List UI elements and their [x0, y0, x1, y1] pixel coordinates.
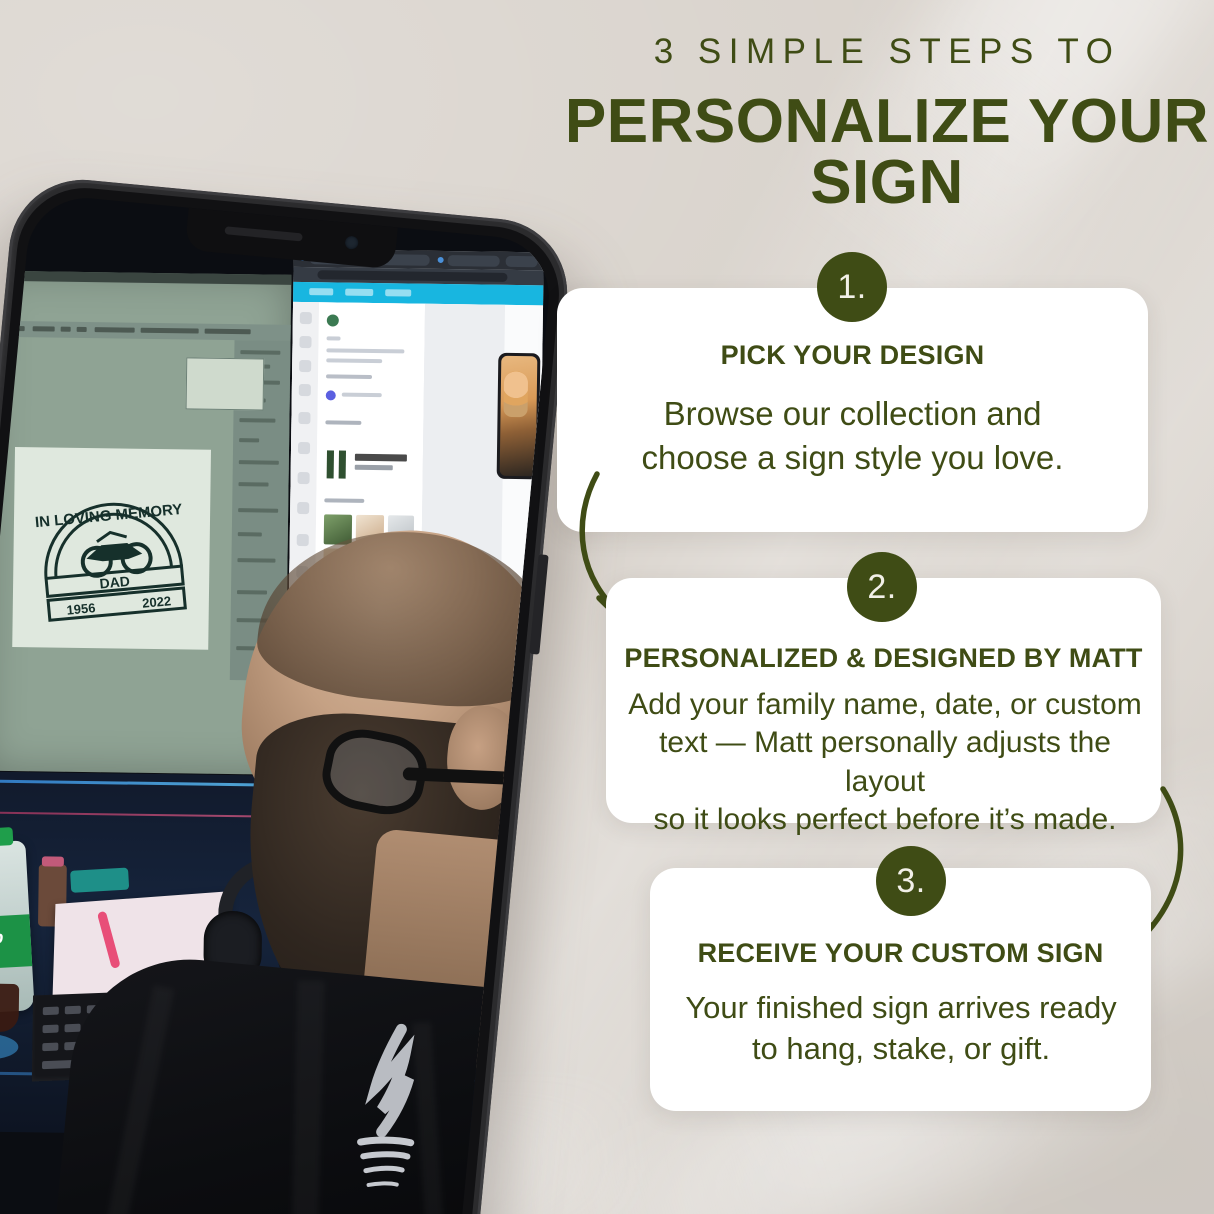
step-title-1: PICK YOUR DESIGN	[557, 340, 1148, 371]
step-body-2: Add your family name, date, or custom te…	[618, 686, 1152, 840]
step-body-1: Browse our collection and choose a sign …	[580, 392, 1125, 479]
drink-tumbler	[0, 983, 19, 1032]
page-title: PERSONALIZE YOUR SIGN	[560, 92, 1214, 214]
earpiece-speaker-icon	[224, 226, 302, 241]
step-body-2-line-1: Add your family name, date, or custom	[618, 686, 1152, 724]
font-preview	[327, 450, 413, 485]
step-body-2-line-3: so it looks perfect before it’s made.	[618, 801, 1152, 839]
svg-text:1956: 1956	[66, 600, 96, 618]
front-camera-icon	[345, 236, 359, 250]
step-number-badge-3: 3.	[876, 846, 946, 916]
phone-photo: IN LOVING MEMORY DAD 1956 2022	[0, 158, 597, 1214]
step-title-2: PERSONALIZED & DESIGNED BY MATT	[606, 643, 1161, 674]
svg-text:2022: 2022	[142, 593, 172, 611]
step-body-3-line-2: to hang, stake, or gift.	[662, 1029, 1140, 1070]
coaster	[0, 1033, 18, 1060]
step-title-3: RECEIVE YOUR CUSTOM SIGN	[650, 938, 1151, 969]
page-title-line-1: PERSONALIZE YOUR	[560, 92, 1214, 153]
phone-screen: IN LOVING MEMORY DAD 1956 2022	[0, 193, 554, 1214]
preview-portrait	[503, 371, 528, 417]
headline-block: 3 SIMPLE STEPS TO PERSONALIZE YOUR SIGN	[560, 34, 1214, 214]
infographic-canvas: IN LOVING MEMORY DAD 1956 2022	[0, 0, 1214, 1214]
step-body-3: Your finished sign arrives ready to hang…	[662, 988, 1140, 1070]
software-dialog-box	[186, 357, 265, 410]
step-body-2-line-2: text — Matt personally adjusts the layou…	[618, 724, 1152, 801]
step-number-badge-2: 2.	[847, 552, 917, 622]
software-title-bar	[0, 271, 291, 285]
design-canvas: IN LOVING MEMORY DAD 1956 2022	[12, 447, 211, 650]
step-body-1-line-1: Browse our collection and	[580, 392, 1125, 436]
step-body-3-line-1: Your finished sign arrives ready	[662, 988, 1140, 1029]
step-number-badge-1: 1.	[817, 252, 887, 322]
mouse-pad	[70, 868, 129, 893]
memorial-sign-design: IN LOVING MEMORY DAD 1956 2022	[23, 467, 201, 629]
page-title-line-2: SIGN	[560, 153, 1214, 214]
software-menu-bar	[0, 321, 291, 341]
headline-kicker: 3 SIMPLE STEPS TO	[560, 34, 1214, 69]
